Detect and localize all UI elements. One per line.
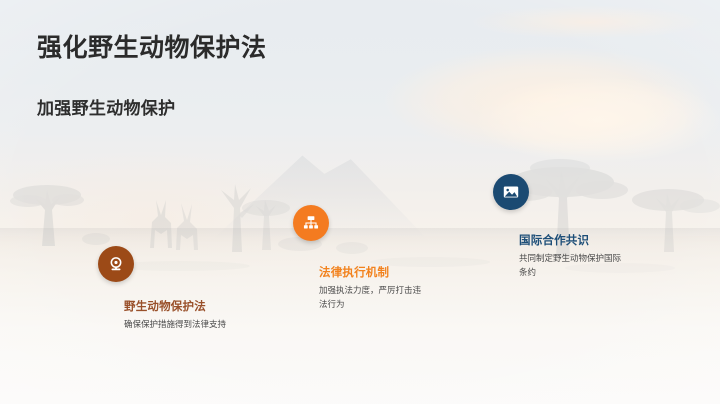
page-title: 强化野生动物保护法 [37,28,267,64]
timeline-node-2-title: 法律执行机制 [319,264,389,280]
timeline-node-1-description: 确保保护措施得到法律支持 [124,318,230,332]
timeline-node-3-description: 共同制定野生动物保护国际条约 [519,252,625,280]
sitemap-icon[interactable] [293,205,329,241]
photo-icon[interactable] [493,174,529,210]
timeline-node-1-title: 野生动物保护法 [124,298,206,314]
timeline-node-3-title: 国际合作共识 [519,232,589,248]
page-subtitle: 加强野生动物保护 [37,94,175,119]
timeline-node-2-description: 加强执法力度，严厉打击违法行为 [319,284,425,312]
webcam-icon[interactable] [98,246,134,282]
presentation-slide: 强化野生动物保护法 加强野生动物保护 野生动物保护法 确保保护措施得到法律支持 [0,0,720,404]
